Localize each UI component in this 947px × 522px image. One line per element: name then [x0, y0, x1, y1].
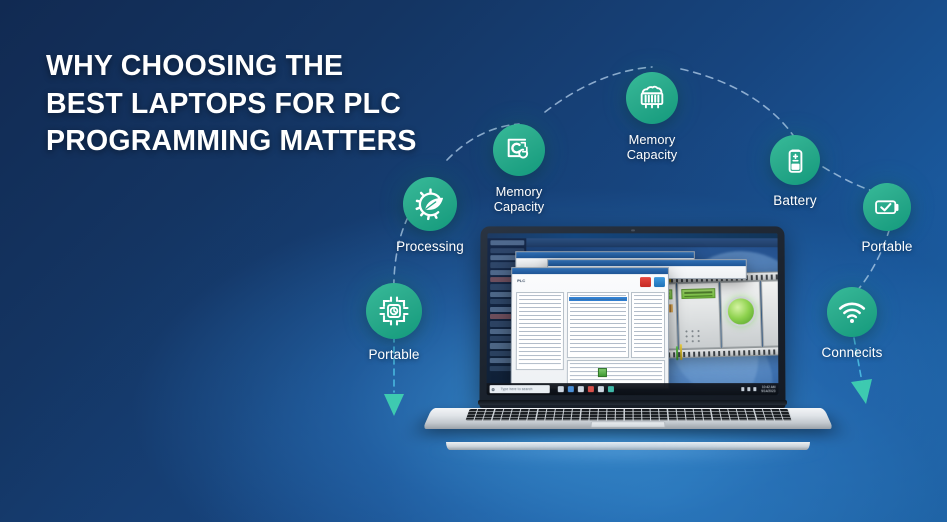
cache-refresh-icon — [504, 135, 534, 165]
headline-line-1: WHY CHOOSING THE — [46, 48, 446, 86]
laptop-lid: PLC — [479, 226, 785, 408]
bubble-portable-left[interactable] — [366, 283, 422, 339]
taskbar-icon-explorer[interactable] — [568, 386, 574, 392]
plc-rotary-dial — [725, 296, 756, 327]
tree-item[interactable] — [490, 240, 524, 245]
bubble-memory-module[interactable] — [626, 72, 678, 124]
node-label-battery: Battery — [773, 193, 816, 209]
ide-toolbar[interactable] — [526, 238, 777, 247]
gear-leaf-icon — [414, 188, 447, 221]
node-label-memory-cache: Memory Capacity — [494, 184, 545, 214]
taskbar-system-tray[interactable]: 10:42 AM 9/14/2023 — [741, 385, 775, 393]
plc-wire-green — [676, 346, 678, 360]
taskbar-icon-app[interactable] — [588, 386, 594, 392]
clock-date: 9/14/2023 — [761, 389, 775, 393]
battery-check-icon — [873, 193, 901, 221]
window-title: PLC — [517, 278, 525, 283]
search-icon — [492, 388, 495, 391]
plc-display — [681, 288, 715, 299]
wifi-icon — [837, 297, 867, 327]
bubble-memory-cache[interactable] — [493, 124, 545, 176]
config-panel-left[interactable] — [516, 292, 564, 370]
plc-config-window[interactable]: PLC — [511, 267, 669, 389]
status-indicator — [598, 368, 607, 377]
taskbar-clock[interactable]: 10:42 AM 9/14/2023 — [761, 385, 775, 393]
taskbar-icon-plc-app[interactable] — [608, 386, 614, 392]
search-placeholder: Type here to search — [501, 387, 533, 391]
red-action-button[interactable] — [640, 277, 651, 287]
config-values-panel[interactable] — [631, 292, 665, 358]
bubble-battery[interactable] — [770, 135, 820, 185]
webcam-icon — [631, 229, 635, 231]
memory-module-icon — [637, 83, 667, 113]
windows-taskbar[interactable]: Type here to search — [487, 383, 779, 395]
laptop-mockup: PLC — [418, 226, 838, 476]
node-label-portable-left: Portable — [368, 347, 419, 363]
cpu-chip-icon — [378, 295, 410, 327]
tray-icon-volume[interactable] — [747, 387, 751, 391]
headline-line-3: PROGRAMMING MATTERS — [46, 123, 446, 161]
plc-module — [761, 280, 779, 347]
blue-action-button[interactable] — [654, 277, 665, 287]
taskbar-icon-edge[interactable] — [578, 386, 584, 392]
taskbar-icon-start[interactable] — [558, 386, 564, 392]
tray-icon-battery[interactable] — [753, 387, 757, 391]
node-label-portable-right: Portable — [861, 239, 912, 255]
config-list-panel[interactable] — [567, 292, 629, 358]
plc-module — [677, 282, 721, 349]
page-title: WHY CHOOSING THE BEST LAPTOPS FOR PLC PR… — [46, 48, 446, 161]
tray-icon-network[interactable] — [741, 387, 745, 391]
feature-node-memory-module[interactable]: Memory Capacity — [577, 72, 727, 162]
node-label-memory-module: Memory Capacity — [627, 132, 678, 162]
battery-vertical-icon — [781, 146, 810, 175]
laptop-trackpad[interactable] — [590, 422, 665, 428]
laptop-keyboard[interactable] — [465, 409, 792, 420]
taskbar-icon-app[interactable] — [598, 386, 604, 392]
infographic-canvas: WHY CHOOSING THE BEST LAPTOPS FOR PLC PR… — [0, 0, 947, 522]
taskbar-search-input[interactable]: Type here to search — [490, 385, 550, 393]
plc-module — [720, 281, 762, 348]
laptop-glow — [428, 438, 828, 464]
taskbar-app-icons[interactable] — [558, 386, 614, 392]
plc-button-grid — [683, 328, 703, 343]
bubble-portable-right[interactable] — [863, 183, 911, 231]
laptop-deck — [423, 408, 834, 429]
laptop-screen[interactable]: PLC — [487, 233, 779, 395]
feature-node-memory-cache[interactable]: Memory Capacity — [444, 124, 594, 214]
headline-line-2: BEST LAPTOPS FOR PLC — [46, 86, 446, 124]
